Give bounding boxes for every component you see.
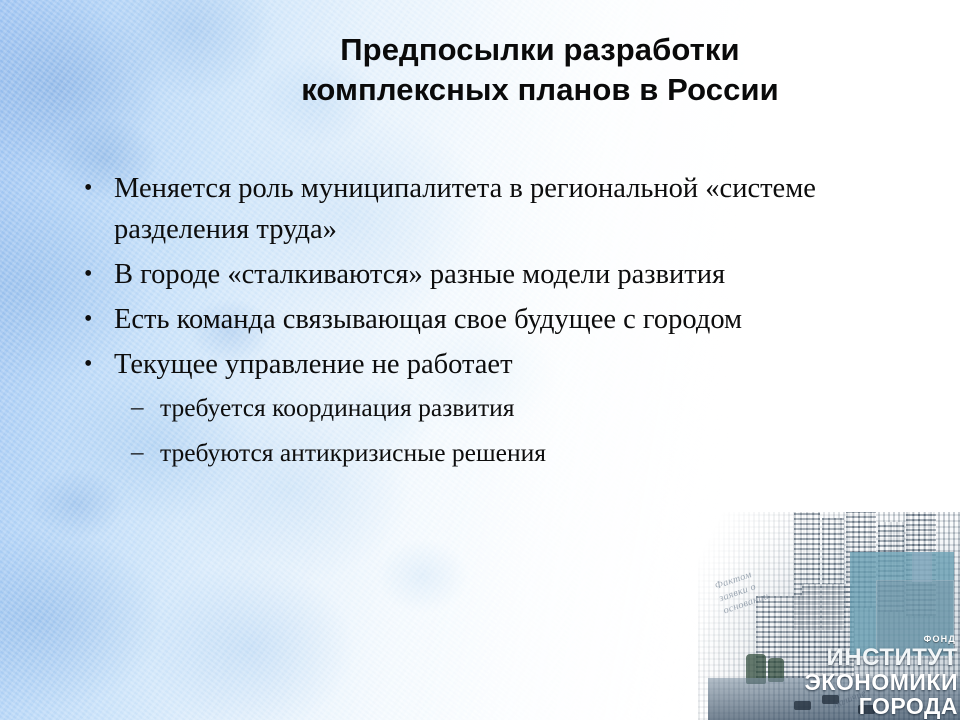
logo-fond-label: ФОНД: [748, 635, 956, 644]
bullet-item: • Текущее управление не работает: [84, 344, 894, 385]
sub-bullet-item: – требуются антикризисные решения: [84, 434, 894, 471]
bullet-marker-dash: –: [131, 389, 160, 426]
bullet-text: В городе «сталкиваются» разные модели ра…: [114, 254, 894, 295]
bullet-list: • Меняется роль муниципалитета в региона…: [84, 168, 894, 479]
logo-wordmark: ФОНД ИНСТИТУТ ЭКОНОМИКИ ГОРОДА: [748, 635, 958, 718]
sub-bullet-text: требуется координация развития: [160, 389, 894, 426]
logo-line-ekonomiki: ЭКОНОМИКИ: [748, 671, 958, 694]
bullet-marker-dot: •: [84, 168, 114, 209]
logo-line-institut: ИНСТИТУТ: [748, 646, 958, 670]
bullet-marker-dot: •: [84, 344, 114, 385]
presentation-slide: Предпосылки разработки комплексных плано…: [0, 0, 960, 720]
bullet-marker-dash: –: [131, 434, 160, 471]
bullet-item: • В городе «сталкиваются» разные модели …: [84, 254, 894, 295]
bullet-item: • Есть команда связывающая свое будущее …: [84, 299, 894, 340]
sub-bullet-item: – требуется координация развития: [84, 389, 894, 426]
bullet-text: Меняется роль муниципалитета в региональ…: [114, 168, 894, 250]
logo-line-goroda: ГОРОДА: [748, 695, 958, 718]
bullet-marker-dot: •: [84, 299, 114, 340]
slide-title: Предпосылки разработки комплексных плано…: [170, 30, 910, 110]
logo-bracket-cut: [912, 552, 932, 582]
organization-logo: Фактом заявки о основании наличие ФОНД И…: [698, 512, 960, 720]
bullet-text: Текущее управление не работает: [114, 344, 894, 385]
bullet-text: Есть команда связывающая свое будущее с …: [114, 299, 894, 340]
bullet-marker-dot: •: [84, 254, 114, 295]
bullet-item: • Меняется роль муниципалитета в региона…: [84, 168, 894, 250]
sub-bullet-text: требуются антикризисные решения: [160, 434, 894, 471]
